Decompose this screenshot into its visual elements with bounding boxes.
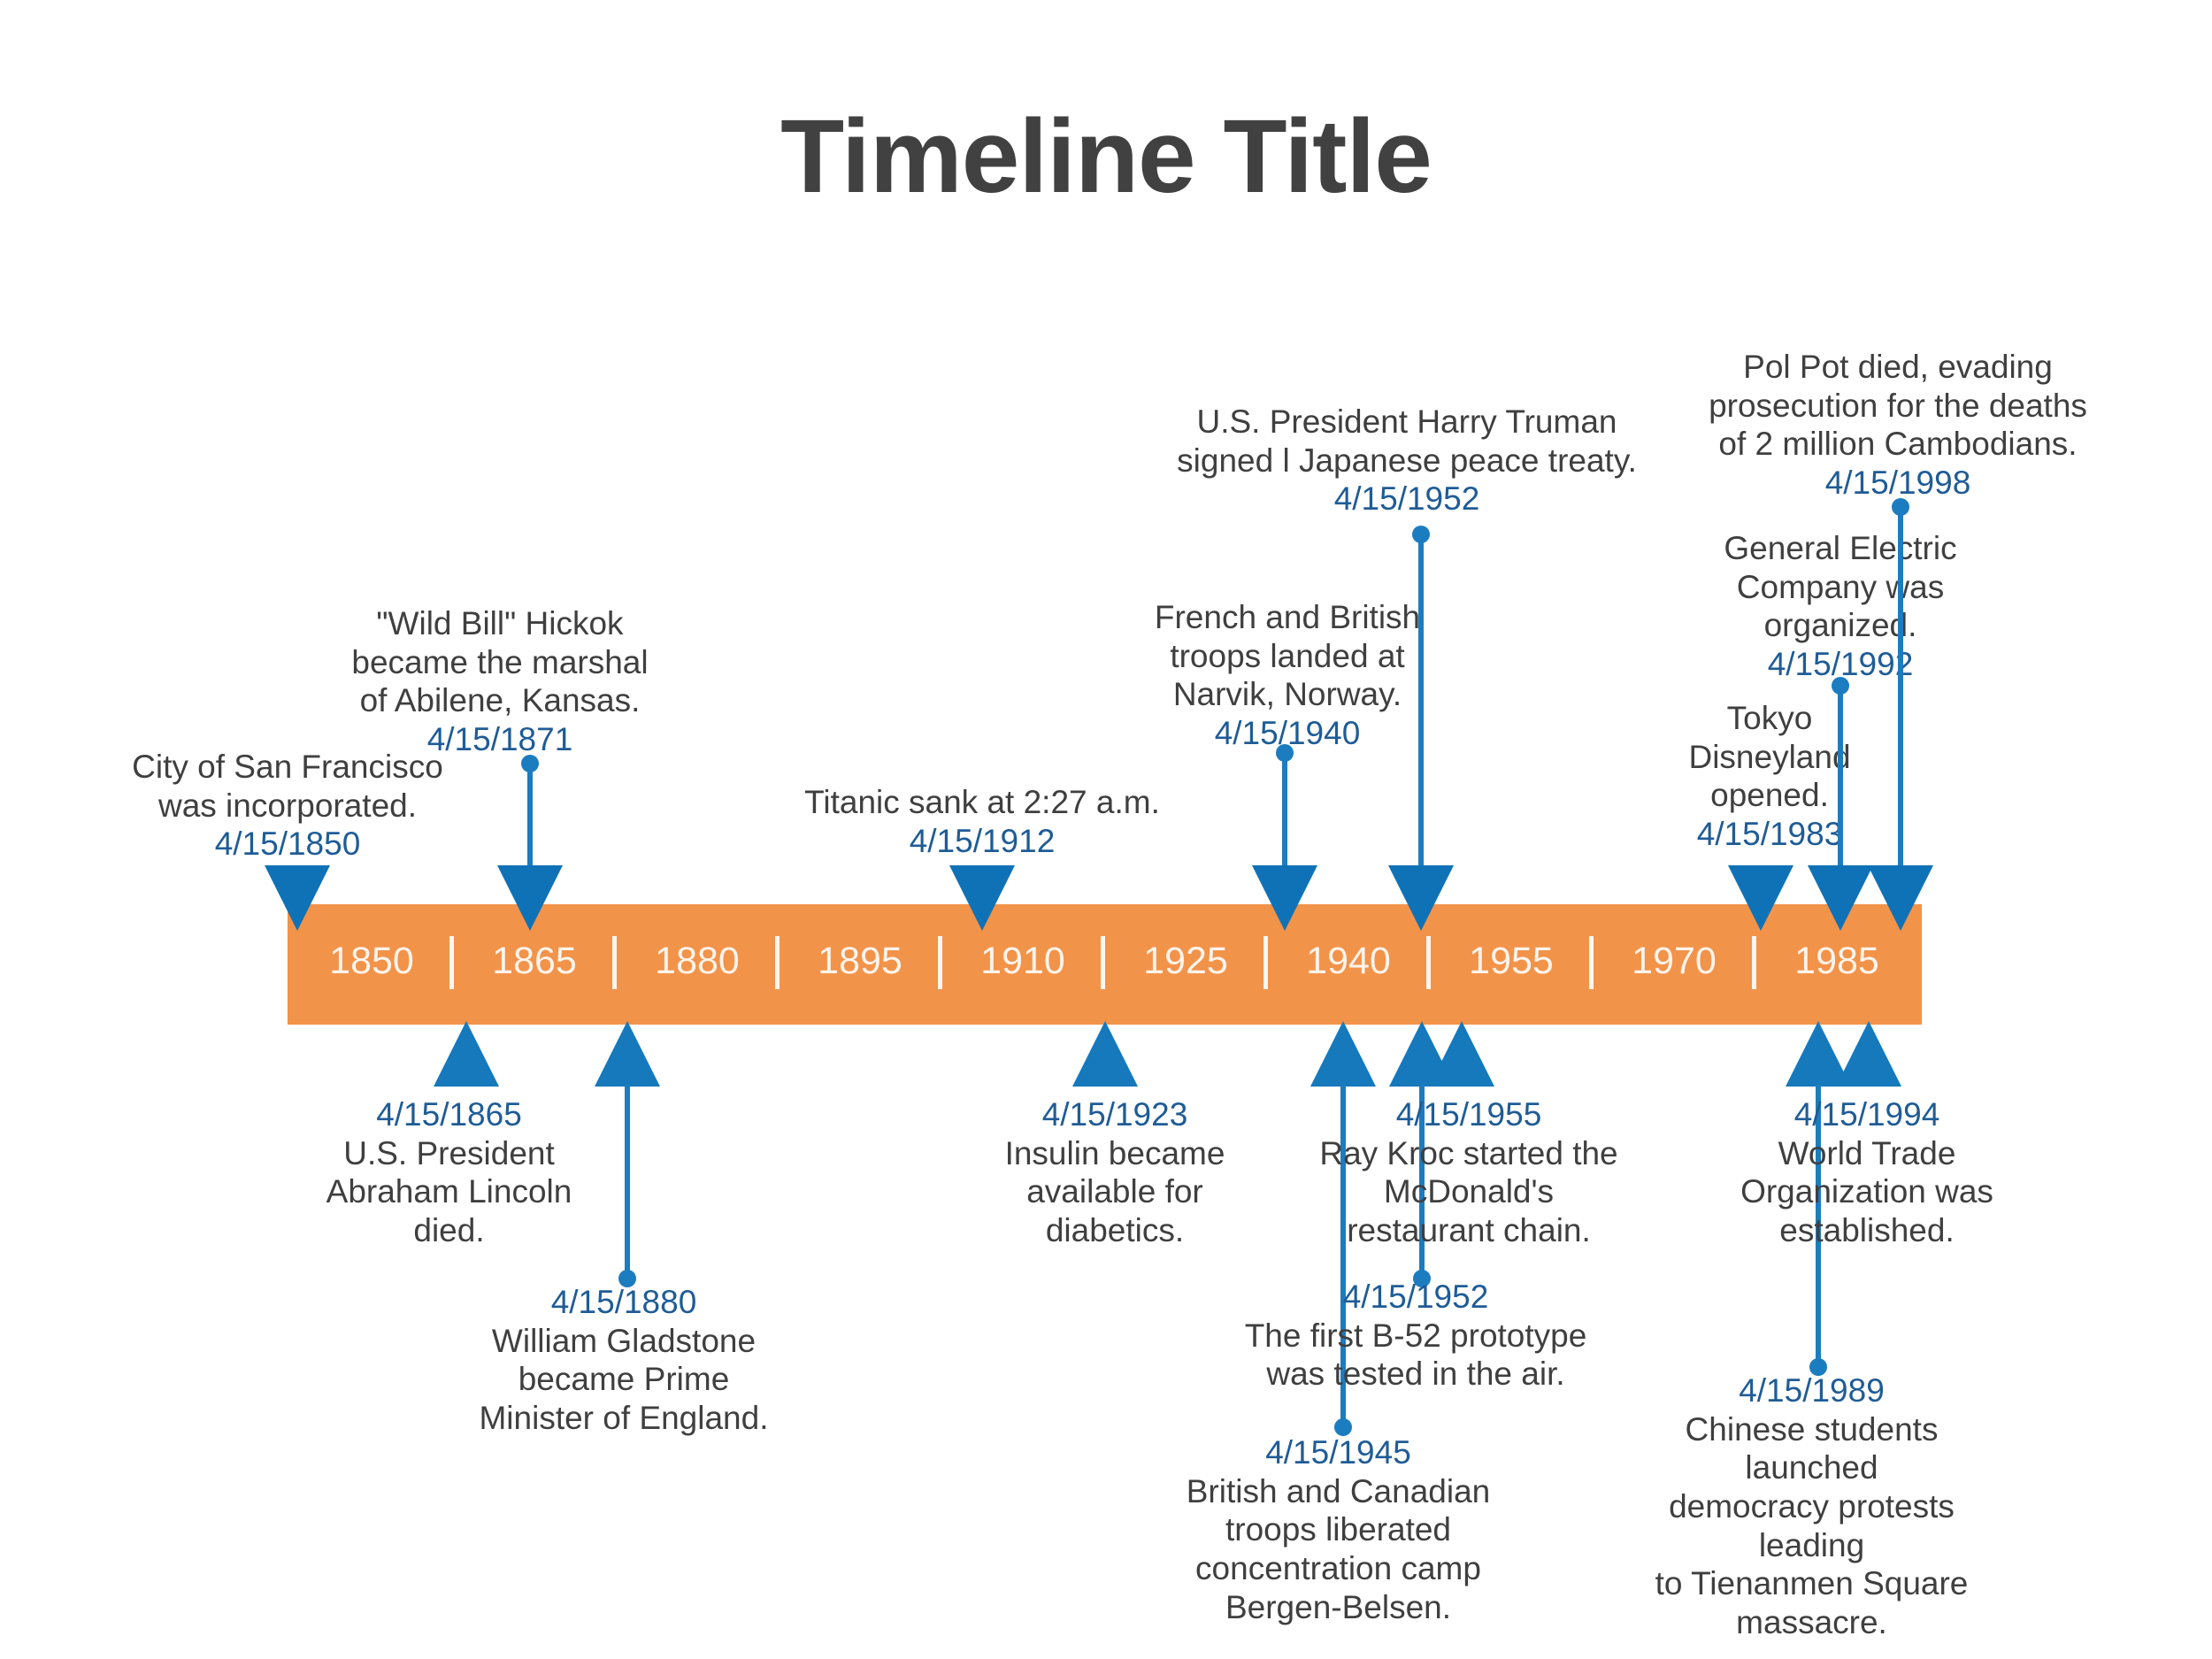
page-title: Timeline Title xyxy=(0,104,2212,209)
marker-triangle-1880[interactable] xyxy=(595,1021,660,1087)
event-1983: Tokyo Disneyland opened. 4/15/1983 xyxy=(1641,699,1898,854)
event-1994: 4/15/1994 World Trade Organization was e… xyxy=(1721,1095,2013,1250)
event-1989: 4/15/1989 Chinese students launched demo… xyxy=(1619,1371,2004,1642)
event-1865-date: 4/15/1865 xyxy=(296,1095,602,1134)
event-1865: 4/15/1865 U.S. President Abraham Lincoln… xyxy=(296,1095,602,1250)
event-1955-date: 4/15/1955 xyxy=(1292,1095,1646,1134)
axis-year-1985: 1985 xyxy=(1757,942,1916,980)
axis-year-1895: 1895 xyxy=(780,942,940,980)
event-1880: 4/15/1880 William Gladstone became Prime… xyxy=(478,1283,770,1438)
axis-year-1925: 1925 xyxy=(1106,942,1265,980)
marker-triangle-1945[interactable] xyxy=(1310,1021,1376,1087)
event-1871-date: 4/15/1871 xyxy=(349,720,650,759)
marker-triangle-1940[interactable] xyxy=(1252,865,1317,931)
event-1871: "Wild Bill" Hickok became the marshal of… xyxy=(349,604,650,759)
marker-triangle-1923[interactable] xyxy=(1072,1021,1138,1087)
event-1998-text: Pol Pot died, evading prosecution for th… xyxy=(1708,348,2088,464)
axis-year-1910: 1910 xyxy=(943,942,1102,980)
event-1945-date: 4/15/1945 xyxy=(1177,1433,1500,1472)
event-1994-date: 4/15/1994 xyxy=(1721,1095,2013,1134)
axis-tick-5 xyxy=(1101,936,1105,989)
event-1992: General Electric Company was organized. … xyxy=(1708,529,1973,684)
event-1952-truman-date: 4/15/1952 xyxy=(1159,480,1655,518)
timeline-canvas: Timeline Title 1850 1865 1880 1895 1910 … xyxy=(0,0,2212,1659)
event-1850-date: 4/15/1850 xyxy=(97,825,478,864)
event-1912-text: Titanic sank at 2:27 a.m. xyxy=(761,783,1203,822)
event-1955: 4/15/1955 Ray Kroc started the McDonald'… xyxy=(1292,1095,1646,1250)
marker-triangle-1955[interactable] xyxy=(1429,1021,1494,1087)
axis-tick-6 xyxy=(1263,936,1268,989)
event-1940-text: French and British troops landed at Narv… xyxy=(1146,598,1429,714)
event-1923-date: 4/15/1923 xyxy=(969,1095,1261,1134)
axis-year-1955: 1955 xyxy=(1432,942,1591,980)
axis-tick-8 xyxy=(1589,936,1594,989)
event-1945: 4/15/1945 British and Canadian troops li… xyxy=(1177,1433,1500,1626)
event-1952-b52-date: 4/15/1952 xyxy=(1239,1278,1593,1317)
event-1912: Titanic sank at 2:27 a.m. 4/15/1912 xyxy=(761,783,1203,860)
axis-year-1880: 1880 xyxy=(618,942,777,980)
event-1952-b52: 4/15/1952 The first B-52 prototype was t… xyxy=(1239,1278,1593,1394)
event-1955-text: Ray Kroc started the McDonald's restaura… xyxy=(1292,1134,1646,1250)
event-1998-date: 4/15/1998 xyxy=(1708,464,2088,503)
event-1850-text: City of San Francisco was incorporated. xyxy=(97,748,478,825)
connector-stem-1952-truman xyxy=(1418,534,1424,869)
marker-triangle-1983[interactable] xyxy=(1728,865,1793,931)
marker-triangle-1912[interactable] xyxy=(949,865,1015,931)
axis-year-1940: 1940 xyxy=(1269,942,1428,980)
axis-tick-2 xyxy=(612,936,617,989)
event-1952-truman-text: U.S. President Harry Truman signed l Jap… xyxy=(1159,403,1655,480)
event-1983-date: 4/15/1983 xyxy=(1641,815,1898,854)
event-1945-text: British and Canadian troops liberated co… xyxy=(1177,1472,1500,1627)
event-1989-text: Chinese students launched democracy prot… xyxy=(1619,1410,2004,1642)
connector-stem-1998 xyxy=(1898,506,1903,869)
axis-year-1850: 1850 xyxy=(292,942,451,980)
connector-stem-1992 xyxy=(1838,685,1843,869)
marker-triangle-1865[interactable] xyxy=(434,1021,499,1087)
axis-year-1970: 1970 xyxy=(1594,942,1754,980)
event-1952-truman: U.S. President Harry Truman signed l Jap… xyxy=(1159,403,1655,518)
axis-tick-7 xyxy=(1426,936,1431,989)
connector-stem-1871 xyxy=(527,763,533,869)
connector-stem-1880 xyxy=(625,1085,630,1278)
axis-year-1865: 1865 xyxy=(455,942,614,980)
marker-triangle-1994[interactable] xyxy=(1836,1021,1901,1087)
axis-tick-4 xyxy=(938,936,942,989)
axis-tick-1 xyxy=(449,936,454,989)
event-1992-text: General Electric Company was organized. xyxy=(1708,529,1973,645)
event-1983-text: Tokyo Disneyland opened. xyxy=(1641,699,1898,815)
event-1880-date: 4/15/1880 xyxy=(478,1283,770,1322)
event-1989-date: 4/15/1989 xyxy=(1619,1371,2004,1410)
event-1850: City of San Francisco was incorporated. … xyxy=(97,748,478,864)
event-1871-text: "Wild Bill" Hickok became the marshal of… xyxy=(349,604,650,720)
connector-stem-1940 xyxy=(1282,752,1287,869)
event-1880-text: William Gladstone became Prime Minister … xyxy=(478,1322,770,1438)
marker-triangle-1992[interactable] xyxy=(1808,865,1873,931)
event-1998: Pol Pot died, evading prosecution for th… xyxy=(1708,348,2088,503)
axis-tick-9 xyxy=(1752,936,1756,989)
event-1994-text: World Trade Organization was established… xyxy=(1721,1134,2013,1250)
event-1912-date: 4/15/1912 xyxy=(761,822,1203,861)
marker-triangle-1871[interactable] xyxy=(497,865,563,931)
axis-tick-3 xyxy=(775,936,780,989)
event-1923: 4/15/1923 Insulin became available for d… xyxy=(969,1095,1261,1250)
event-1952-b52-text: The first B-52 prototype was tested in t… xyxy=(1239,1317,1593,1394)
event-1865-text: U.S. President Abraham Lincoln died. xyxy=(296,1134,602,1250)
marker-triangle-1998[interactable] xyxy=(1868,865,1933,931)
marker-triangle-1952-truman[interactable] xyxy=(1388,865,1454,931)
event-1940: French and British troops landed at Narv… xyxy=(1146,598,1429,753)
event-1923-text: Insulin became available for diabetics. xyxy=(969,1134,1261,1250)
marker-triangle-1850[interactable] xyxy=(265,865,330,931)
